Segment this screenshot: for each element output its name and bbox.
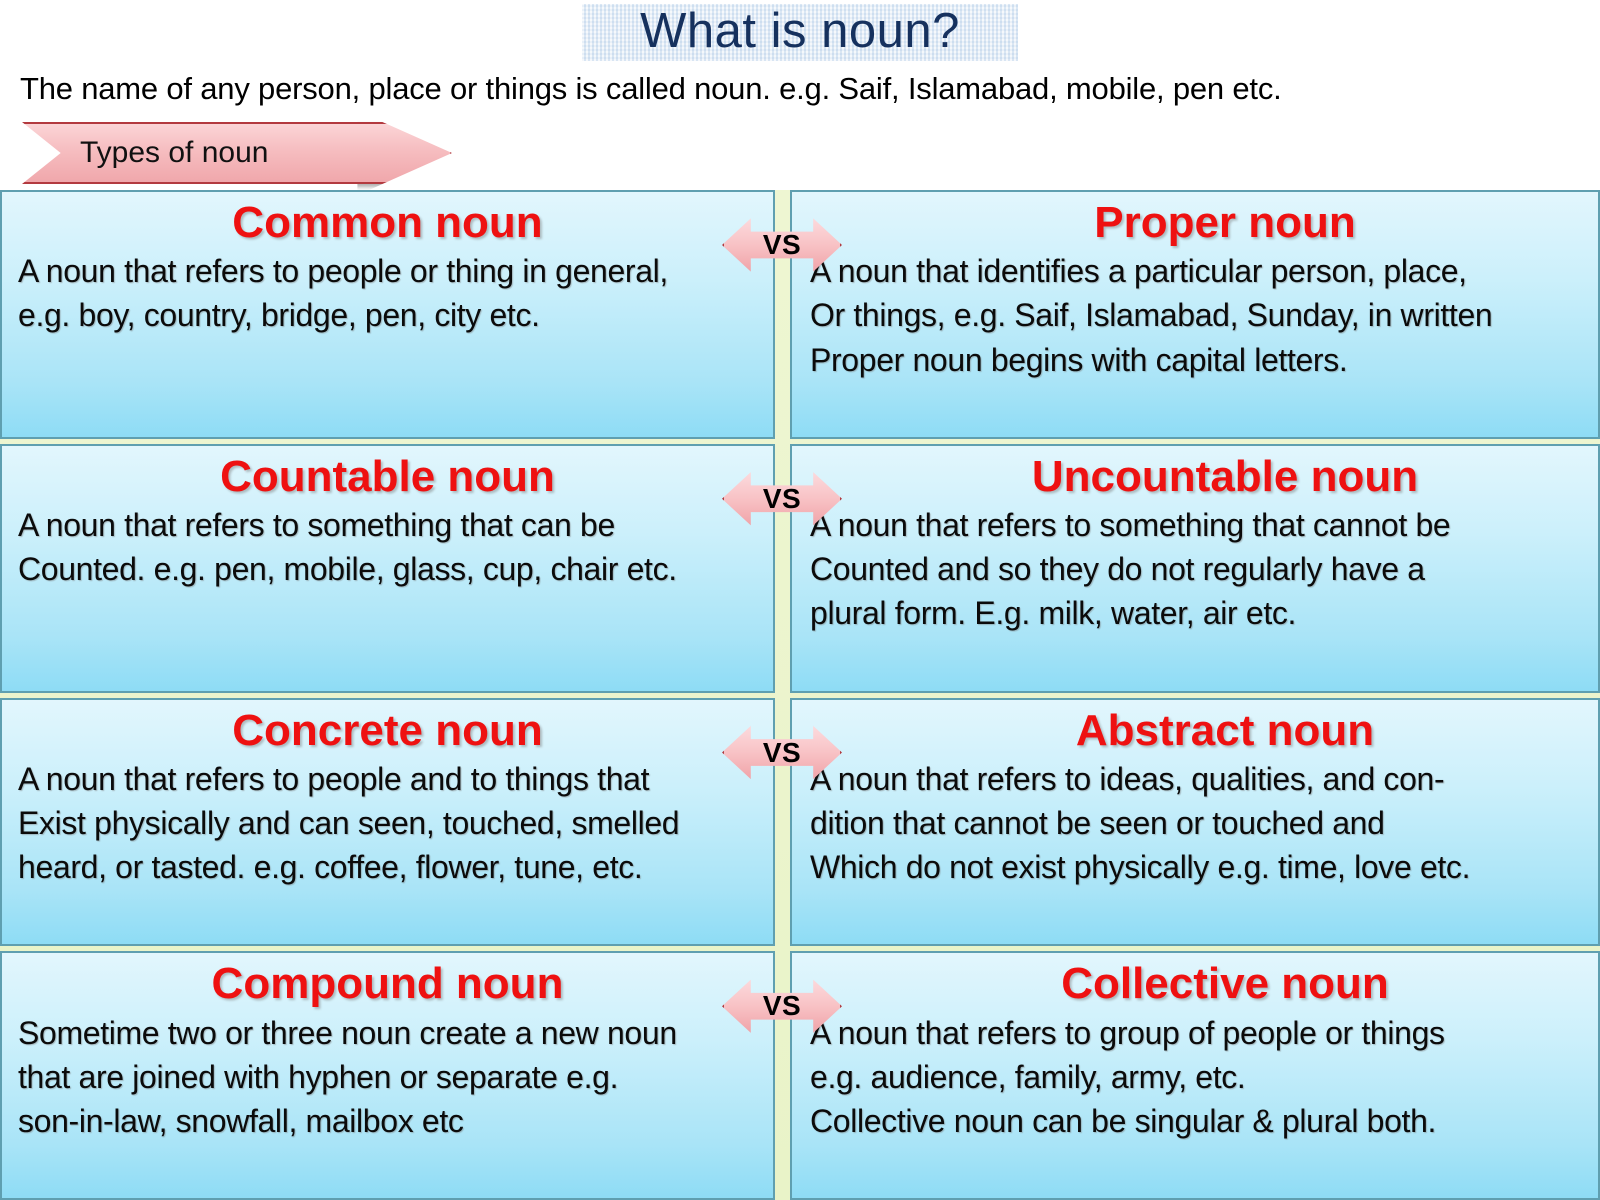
vs-label: VS xyxy=(722,216,842,274)
card-body-line: Exist physically and can seen, touched, … xyxy=(18,801,761,845)
card-compound-noun: Compound noun Sometime two or three noun… xyxy=(0,951,775,1200)
types-of-noun-label: Types of noun xyxy=(80,122,268,184)
card-uncountable-noun: Uncountable noun A noun that refers to s… xyxy=(790,444,1600,693)
card-abstract-noun: Abstract noun A noun that refers to idea… xyxy=(790,698,1600,947)
card-countable-noun: Countable noun A noun that refers to som… xyxy=(0,444,775,693)
vs-label: VS xyxy=(722,724,842,782)
card-body-line: A noun that refers to something that can… xyxy=(18,503,761,547)
comparison-row: Countable noun A noun that refers to som… xyxy=(0,444,1600,693)
card-body-line: A noun that refers to something that can… xyxy=(810,503,1586,547)
card-body-line: son-in-law, snowfall, mailbox etc xyxy=(18,1099,761,1143)
vs-label: VS xyxy=(722,977,842,1035)
intro-text: The name of any person, place or things … xyxy=(0,61,1600,107)
card-concrete-noun: Concrete noun A noun that refers to peop… xyxy=(0,698,775,947)
page-header: What is noun? The name of any person, pl… xyxy=(0,0,1600,190)
card-body-line: Or things, e.g. Saif, Islamabad, Sunday,… xyxy=(810,293,1586,337)
comparison-row: Compound noun Sometime two or three noun… xyxy=(0,951,1600,1200)
card-body-line: e.g. audience, family, army, etc. xyxy=(810,1055,1586,1099)
comparison-row: Concrete noun A noun that refers to peop… xyxy=(0,698,1600,947)
card-body-line: A noun that identifies a particular pers… xyxy=(810,249,1586,293)
card-body-line: Sometime two or three noun create a new … xyxy=(18,1011,761,1055)
card-title: Collective noun xyxy=(804,959,1586,1008)
card-body-line: Proper noun begins with capital letters. xyxy=(810,338,1586,382)
card-title: Proper noun xyxy=(804,198,1586,247)
card-body: A noun that refers to ideas, qualities, … xyxy=(804,757,1586,889)
card-body-line: A noun that refers to ideas, qualities, … xyxy=(810,757,1586,801)
vs-badge: VS xyxy=(722,216,842,274)
card-body-line: heard, or tasted. e.g. coffee, flower, t… xyxy=(18,845,761,889)
card-body: A noun that refers to group of people or… xyxy=(804,1011,1586,1143)
card-body-line: Collective noun can be singular & plural… xyxy=(810,1099,1586,1143)
card-body-line: Counted. e.g. pen, mobile, glass, cup, c… xyxy=(18,547,761,591)
card-title: Compound noun xyxy=(14,959,761,1008)
card-body-line: Which do not exist physically e.g. time,… xyxy=(810,845,1586,889)
vs-badge: VS xyxy=(722,977,842,1035)
noun-types-grid: Common noun A noun that refers to people… xyxy=(0,190,1600,1200)
types-of-noun-banner: Types of noun xyxy=(22,122,452,184)
card-body: A noun that refers to people and to thin… xyxy=(14,757,761,889)
card-body-line: plural form. E.g. milk, water, air etc. xyxy=(810,591,1586,635)
card-title: Countable noun xyxy=(14,452,761,501)
title-container: What is noun? xyxy=(0,0,1600,61)
vs-badge: VS xyxy=(722,470,842,528)
vs-badge: VS xyxy=(722,724,842,782)
card-body-line: that are joined with hyphen or separate … xyxy=(18,1055,761,1099)
card-title: Abstract noun xyxy=(804,706,1586,755)
card-body-line: e.g. boy, country, bridge, pen, city etc… xyxy=(18,293,761,337)
card-collective-noun: Collective noun A noun that refers to gr… xyxy=(790,951,1600,1200)
card-title: Uncountable noun xyxy=(804,452,1586,501)
comparison-row: Common noun A noun that refers to people… xyxy=(0,190,1600,439)
vs-label: VS xyxy=(722,470,842,528)
card-body: A noun that refers to something that can… xyxy=(804,503,1586,635)
card-body: A noun that refers to something that can… xyxy=(14,503,761,591)
card-body-line: A noun that refers to people or thing in… xyxy=(18,249,761,293)
card-proper-noun: Proper noun A noun that identifies a par… xyxy=(790,190,1600,439)
card-body-line: A noun that refers to people and to thin… xyxy=(18,757,761,801)
card-body-line: Counted and so they do not regularly hav… xyxy=(810,547,1586,591)
card-body-line: dition that cannot be seen or touched an… xyxy=(810,801,1586,845)
card-title: Common noun xyxy=(14,198,761,247)
card-body-line: A noun that refers to group of people or… xyxy=(810,1011,1586,1055)
card-body: A noun that refers to people or thing in… xyxy=(14,249,761,337)
card-common-noun: Common noun A noun that refers to people… xyxy=(0,190,775,439)
page-title: What is noun? xyxy=(582,4,1018,61)
card-body: Sometime two or three noun create a new … xyxy=(14,1011,761,1143)
card-title: Concrete noun xyxy=(14,706,761,755)
card-body: A noun that identifies a particular pers… xyxy=(804,249,1586,381)
